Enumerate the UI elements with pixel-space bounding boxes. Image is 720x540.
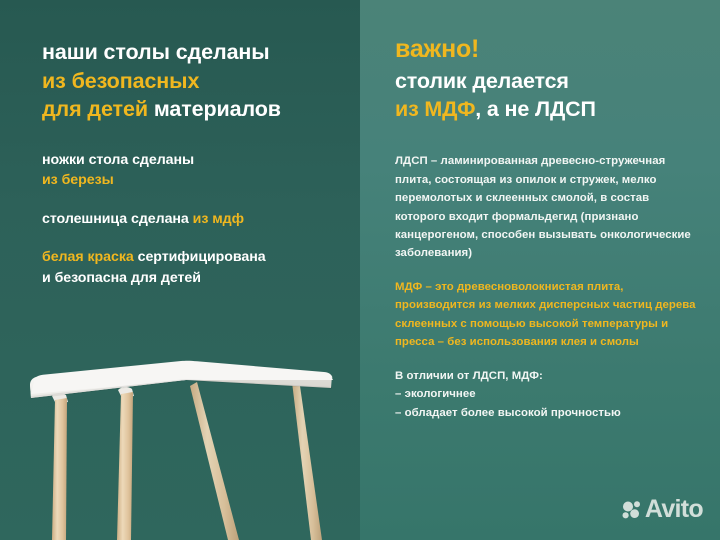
bullet-3-white-b: и безопасна для детей [42, 270, 201, 286]
bullet-2-gold: из мдф [193, 211, 244, 227]
bullet-3-white-a: сертифицирована [134, 249, 266, 265]
left-headline: наши столы сделаны из безопасных для дет… [42, 38, 344, 124]
paragraph-mdf: МДФ – это древесноволокнистая плита, про… [395, 278, 702, 352]
right-paragraph-list: ЛДСП – ламинированная древесно-стружечна… [395, 152, 702, 422]
avito-wordmark: Avito [645, 497, 703, 522]
left-headline-line3-white: материалов [148, 97, 281, 121]
table-product-image [0, 330, 360, 540]
bullet-1-white: ножки стола сделаны [42, 152, 194, 168]
bullet-1-gold: из березы [42, 172, 114, 188]
right-panel: важно! столик делается из МДФ, а не ЛДСП… [360, 0, 720, 540]
avito-dots-icon [622, 500, 641, 519]
list-item: белая краска сертифицирована и безопасна… [42, 247, 344, 288]
list-item: столешница сделана из мдф [42, 209, 344, 229]
bullet-3-gold: белая краска [42, 249, 134, 265]
list-item: ножки стола сделаны из березы [42, 150, 344, 191]
right-headline-line2: столик делается [395, 69, 569, 93]
right-headline-line3-white: , а не ЛДСП [475, 97, 596, 121]
left-headline-line3-gold: для детей [42, 97, 148, 121]
right-headline-line3-gold: из МДФ [395, 97, 475, 121]
left-text-block: наши столы сделаны из безопасных для дет… [42, 38, 344, 288]
avito-logo: Avito [622, 497, 703, 522]
right-headline: важно! столик делается из МДФ, а не ЛДСП [395, 33, 702, 124]
paragraph-comparison: В отличии от ЛДСП, МДФ: – экологичнее – … [395, 367, 702, 422]
bullet-2-white: столешница сделана [42, 211, 193, 227]
left-panel: наши столы сделаны из безопасных для дет… [0, 0, 360, 540]
left-headline-line2: из безопасных [42, 69, 199, 93]
right-headline-vazhno: важно! [395, 35, 479, 63]
paragraph-ldsp: ЛДСП – ламинированная древесно-стружечна… [395, 152, 702, 263]
right-text-block: важно! столик делается из МДФ, а не ЛДСП… [395, 33, 702, 422]
promo-card: наши столы сделаны из безопасных для дет… [0, 0, 720, 540]
left-headline-line1: наши столы сделаны [42, 40, 270, 64]
left-bullet-list: ножки стола сделаны из березы столешница… [42, 150, 344, 288]
